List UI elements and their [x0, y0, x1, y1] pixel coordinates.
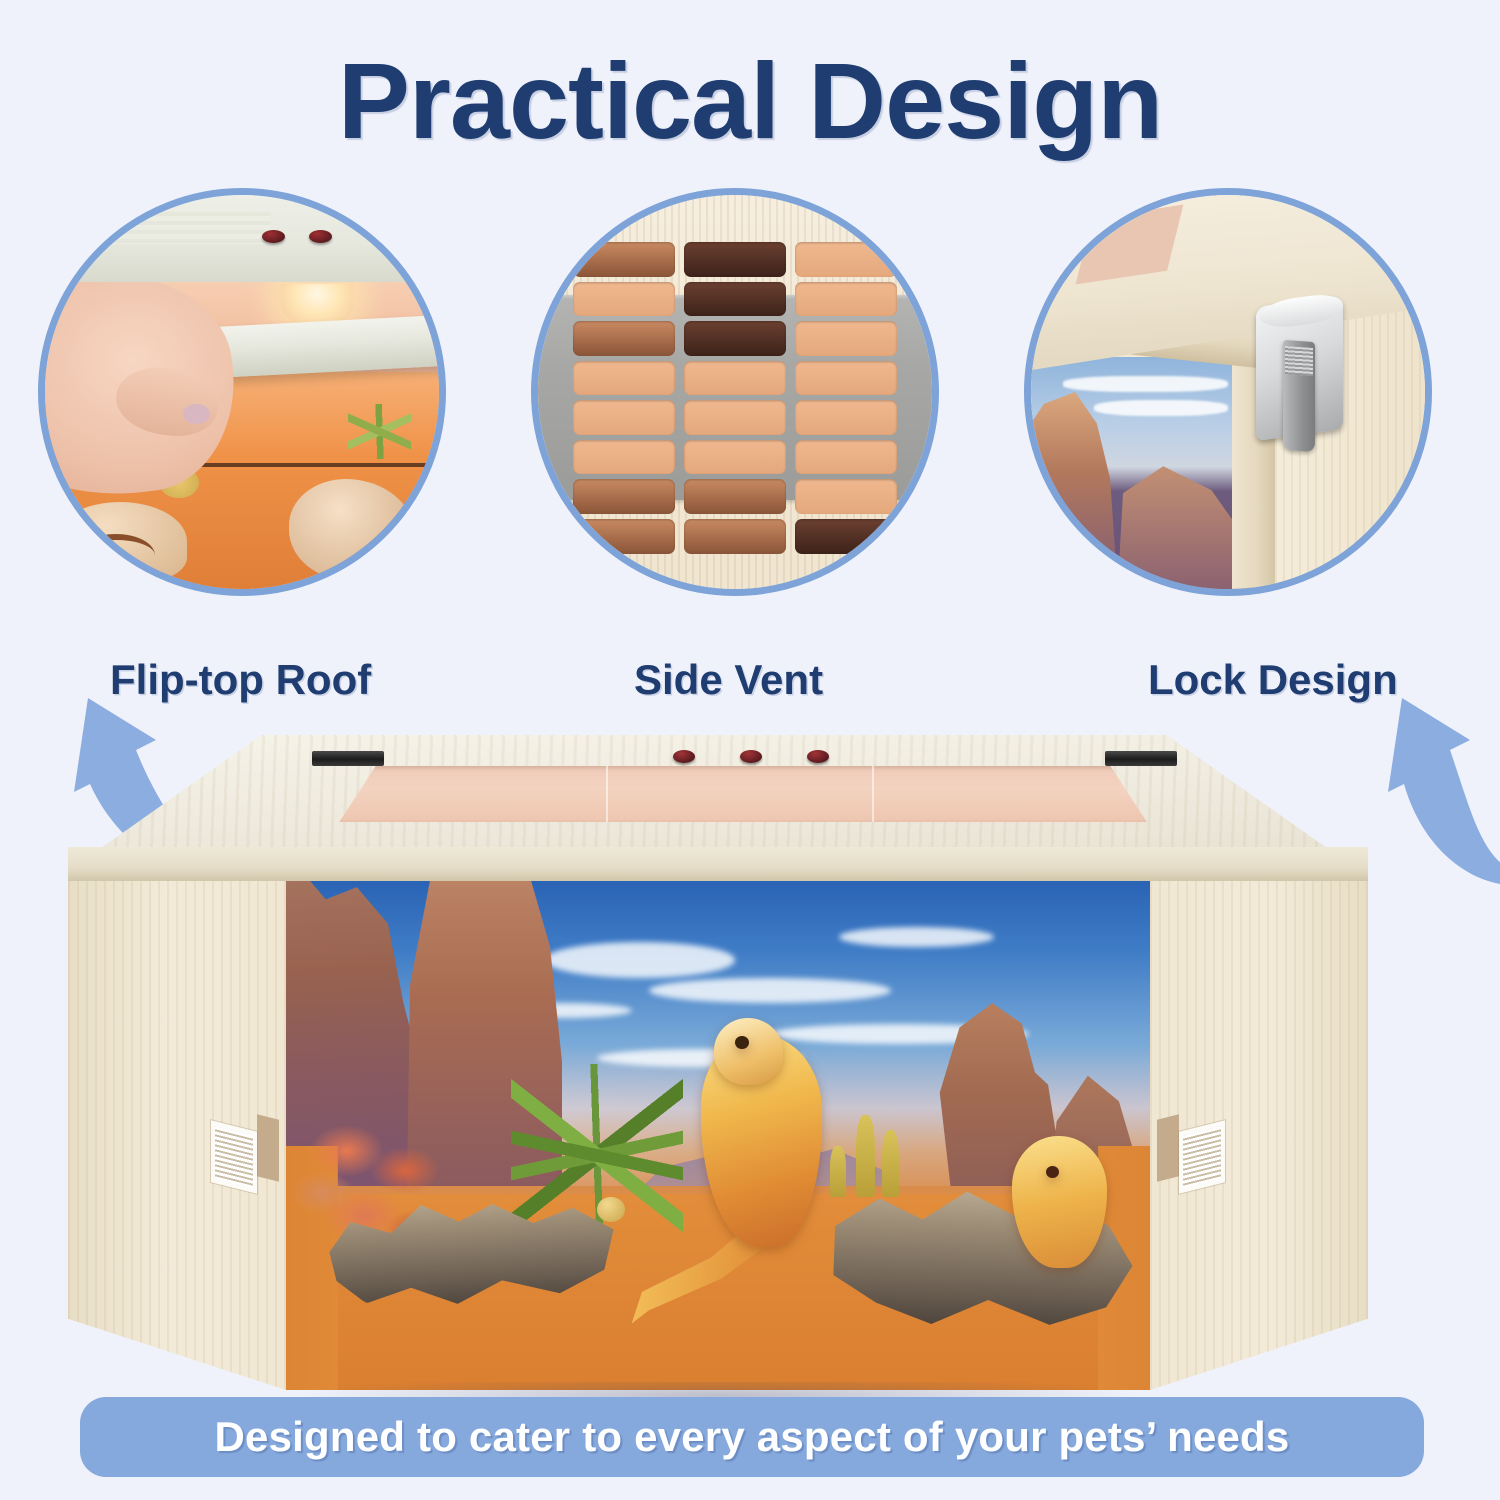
side-vent-right — [1179, 1120, 1225, 1193]
feature-photo-flip-top-roof — [38, 188, 446, 596]
cloud — [649, 978, 891, 1003]
cave-arch — [77, 534, 156, 577]
decor-cactus — [856, 1115, 875, 1196]
terrarium-body — [68, 881, 1368, 1390]
feature-photo-lock-design — [1024, 188, 1432, 596]
lid-hinge-left — [312, 751, 384, 766]
vent-slats — [215, 1126, 253, 1187]
lid-top-edge — [38, 195, 446, 282]
decor-green-fern — [511, 1064, 684, 1247]
decor-cactus — [882, 1130, 899, 1196]
decor-cactus — [830, 1146, 846, 1197]
lid-front-edge — [68, 847, 1368, 883]
lock-design-illustration — [1031, 195, 1425, 589]
lid-mesh-window — [339, 766, 1146, 822]
feature-label-side-vent: Side Vent — [634, 656, 823, 704]
product-photo-terrarium — [54, 735, 1446, 1390]
vent-slats — [1183, 1126, 1221, 1187]
bearded-dragon-second — [1012, 1136, 1107, 1268]
cloud — [1063, 376, 1228, 392]
page-title: Practical Design — [0, 44, 1500, 157]
feature-label-lock-design: Lock Design — [1148, 656, 1398, 704]
bearded-dragon-head — [714, 1018, 783, 1084]
cloud — [839, 927, 995, 947]
tagline-banner: Designed to cater to every aspect of you… — [80, 1397, 1424, 1477]
cloud — [1094, 400, 1228, 416]
side-vent-left — [211, 1120, 257, 1193]
lid-grain — [44, 212, 271, 243]
plant-sprig — [348, 404, 411, 459]
lock-latch-ridges — [1285, 346, 1313, 376]
flip-top-roof-illustration — [45, 195, 439, 589]
lid-knob — [807, 750, 829, 763]
vent-recess-right — [1157, 1114, 1179, 1181]
feature-photo-side-vent — [531, 188, 939, 596]
fingernail — [183, 404, 211, 424]
vent-slot-grid — [573, 242, 896, 553]
cloud — [545, 942, 735, 978]
terrarium-interior — [286, 881, 1150, 1390]
side-vent-illustration — [538, 195, 932, 589]
vent-recess-left — [257, 1114, 279, 1181]
decor-rock — [597, 1197, 625, 1222]
tagline-text: Designed to cater to every aspect of you… — [215, 1413, 1290, 1461]
lid-hinge-right — [1105, 751, 1177, 766]
